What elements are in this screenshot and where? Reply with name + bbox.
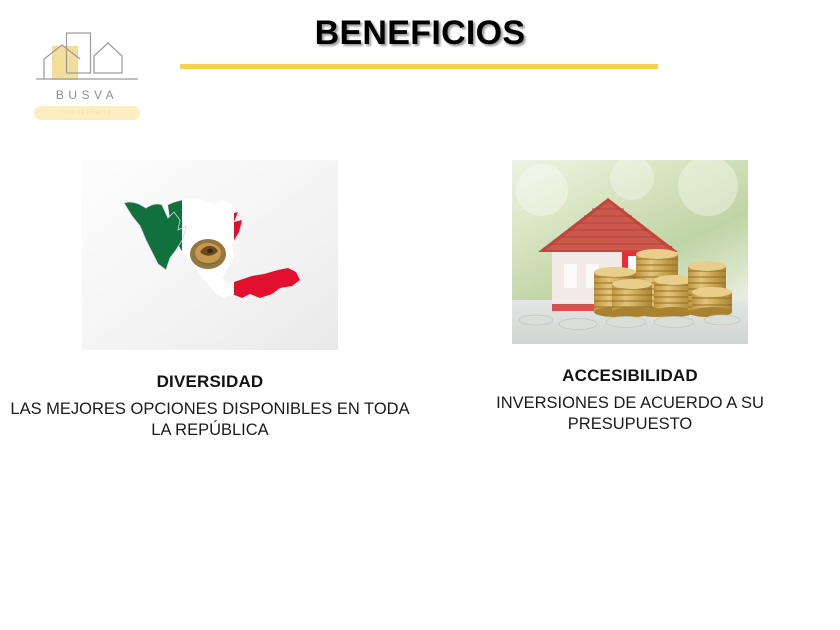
logo-tagline-pill: Inmobiliaria bbox=[34, 106, 140, 120]
benefit-item-accesibilidad: ACCESIBILIDAD INVERSIONES DE ACUERDO A S… bbox=[420, 160, 840, 441]
brand-logo: BUSVA Inmobiliaria bbox=[28, 30, 146, 122]
benefit-heading: ACCESIBILIDAD bbox=[562, 366, 698, 386]
mexico-map-flag-image bbox=[82, 160, 338, 350]
title-underline-rule bbox=[180, 64, 658, 69]
benefit-body: LAS MEJORES OPCIONES DISPONIBLES EN TODA… bbox=[10, 399, 410, 441]
benefit-item-diversidad: DIVERSIDAD LAS MEJORES OPCIONES DISPONIB… bbox=[0, 160, 420, 441]
house-with-coin-stacks-image bbox=[512, 160, 748, 344]
slide-canvas: BUSVA Inmobiliaria BENEFICIOS bbox=[0, 0, 840, 630]
benefit-heading: DIVERSIDAD bbox=[157, 372, 264, 392]
busva-building-mark-icon bbox=[28, 30, 146, 92]
logo-wordmark: BUSVA bbox=[28, 88, 146, 102]
benefit-body: INVERSIONES DE ACUERDO A SU PRESUPUESTO bbox=[465, 393, 795, 435]
page-title: BENEFICIOS bbox=[180, 14, 660, 53]
benefits-row: DIVERSIDAD LAS MEJORES OPCIONES DISPONIB… bbox=[0, 160, 840, 441]
logo-tagline: Inmobiliaria bbox=[34, 106, 140, 120]
